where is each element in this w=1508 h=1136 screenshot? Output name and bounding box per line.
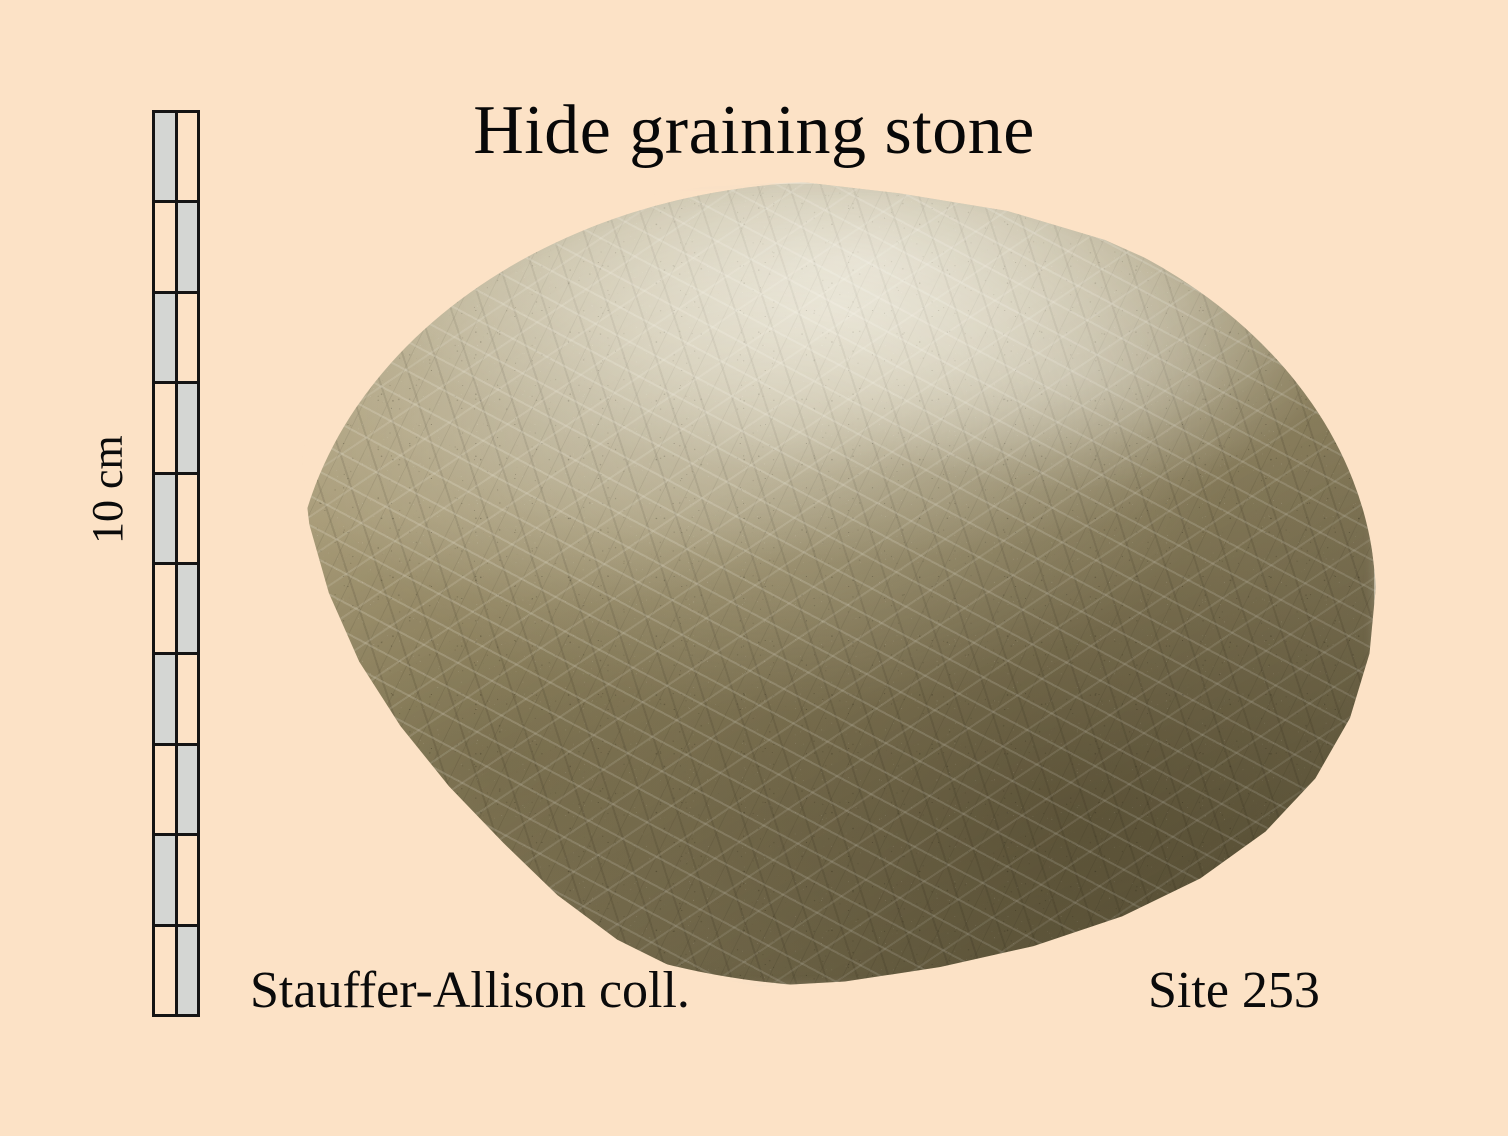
- scale-cell: [155, 113, 178, 200]
- scale-bar: [152, 110, 200, 1017]
- scale-bar-segment: [155, 836, 197, 926]
- scale-cell: [155, 746, 178, 833]
- scale-cell: [155, 927, 178, 1014]
- scale-cell: [178, 836, 198, 923]
- stone-outline: [292, 182, 1376, 988]
- scale-bar-segment: [155, 294, 197, 384]
- page-title: Hide graining stone: [0, 92, 1508, 170]
- scale-bar-segment: [155, 565, 197, 655]
- scale-bar-segment: [155, 203, 197, 293]
- scale-bar-segment: [155, 475, 197, 565]
- scale-bar-label: 10 cm: [86, 354, 130, 544]
- scale-cell: [178, 203, 198, 290]
- scale-cell: [178, 565, 198, 652]
- scale-cell: [178, 927, 198, 1014]
- scale-cell: [155, 294, 178, 381]
- scale-cell: [155, 655, 178, 742]
- scale-cell: [155, 565, 178, 652]
- scale-bar-segment: [155, 746, 197, 836]
- scale-cell: [178, 655, 198, 742]
- scale-bar-segment: [155, 113, 197, 203]
- scale-cell: [178, 294, 198, 381]
- scale-bar-segment: [155, 655, 197, 745]
- scale-cell: [155, 836, 178, 923]
- artifact-image: [292, 182, 1376, 988]
- collection-caption: Stauffer-Allison coll.: [250, 960, 690, 1022]
- scale-cell: [178, 113, 198, 200]
- scale-bar-segment: [155, 927, 197, 1014]
- scale-cell: [155, 475, 178, 562]
- scale-bar-segment: [155, 384, 197, 474]
- scale-cell: [178, 475, 198, 562]
- scale-cell: [155, 203, 178, 290]
- artifact-plate: Hide graining stone: [0, 0, 1508, 1136]
- scale-cell: [178, 746, 198, 833]
- scale-cell: [155, 384, 178, 471]
- scale-cell: [178, 384, 198, 471]
- site-caption: Site 253: [1148, 960, 1320, 1022]
